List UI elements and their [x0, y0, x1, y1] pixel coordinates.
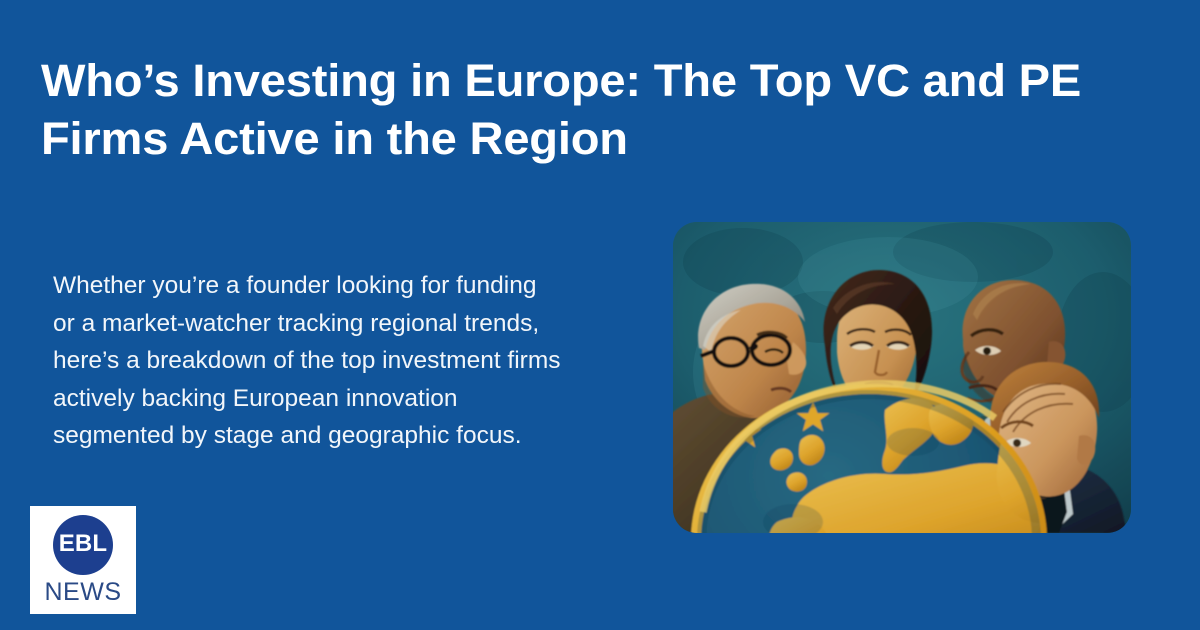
illustration-artwork: [673, 222, 1131, 533]
logo-wordmark: NEWS: [45, 579, 122, 607]
logo-monogram: EBL: [59, 532, 108, 556]
page-title: Who’s Investing in Europe: The Top VC an…: [41, 52, 1200, 168]
ebl-news-logo: EBL NEWS: [30, 506, 136, 614]
hero-illustration: [673, 222, 1131, 533]
logo-circle-icon: EBL: [53, 515, 113, 575]
social-share-card: Who’s Investing in Europe: The Top VC an…: [0, 0, 1200, 630]
body-text: Whether you’re a founder looking for fun…: [53, 267, 653, 455]
